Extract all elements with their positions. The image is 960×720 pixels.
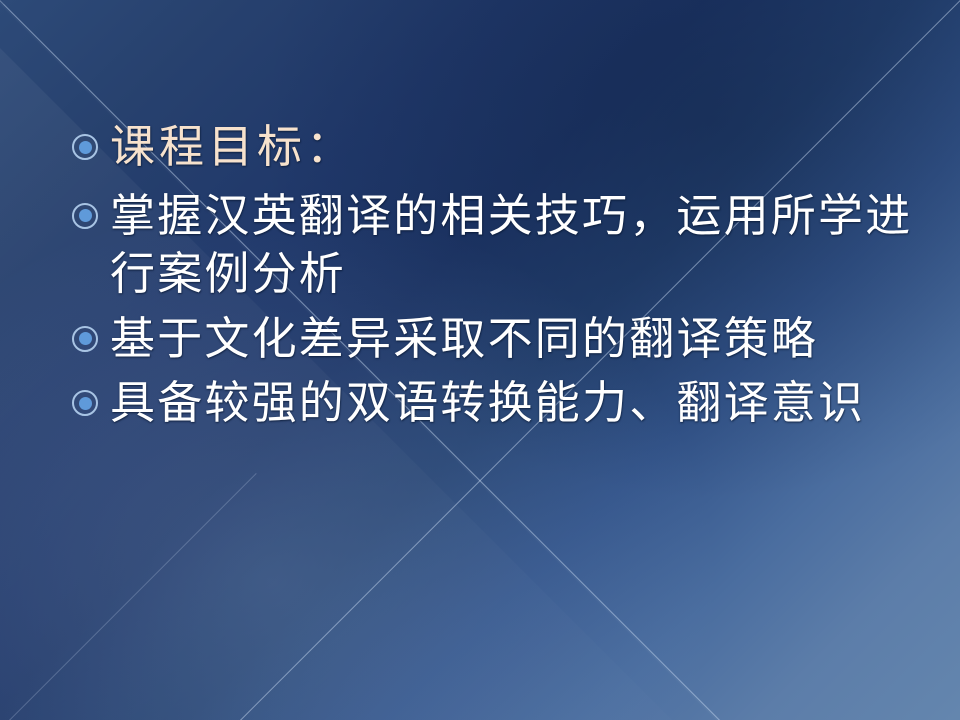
background-diagonal-line-lower-left <box>0 473 257 720</box>
ring-bullet-icon <box>72 134 98 160</box>
presentation-slide: 课程目标： 掌握汉英翻译的相关技巧，运用所学进行案例分析 基于文化差异采取不同的… <box>0 0 960 720</box>
slide-content-body: 课程目标： 掌握汉英翻译的相关技巧，运用所学进行案例分析 基于文化差异采取不同的… <box>72 118 920 433</box>
ring-bullet-icon <box>72 326 98 352</box>
ring-bullet-icon <box>72 390 98 416</box>
bullet-text-objective-bilingual-ability: 具备较强的双语转换能力、翻译意识 <box>110 374 920 433</box>
bullet-text-course-objectives-heading: 课程目标： <box>110 118 920 177</box>
bullet-item-course-objectives-heading: 课程目标： <box>72 118 920 177</box>
bullet-item-objective-bilingual-ability: 具备较强的双语转换能力、翻译意识 <box>72 374 920 433</box>
ring-bullet-icon <box>72 203 98 229</box>
bullet-item-objective-cultural-strategies: 基于文化差异采取不同的翻译策略 <box>72 310 920 369</box>
bullet-text-objective-cultural-strategies: 基于文化差异采取不同的翻译策略 <box>110 310 920 369</box>
bullet-text-objective-translation-skills: 掌握汉英翻译的相关技巧，运用所学进行案例分析 <box>110 187 920 304</box>
bullet-item-objective-translation-skills: 掌握汉英翻译的相关技巧，运用所学进行案例分析 <box>72 187 920 304</box>
